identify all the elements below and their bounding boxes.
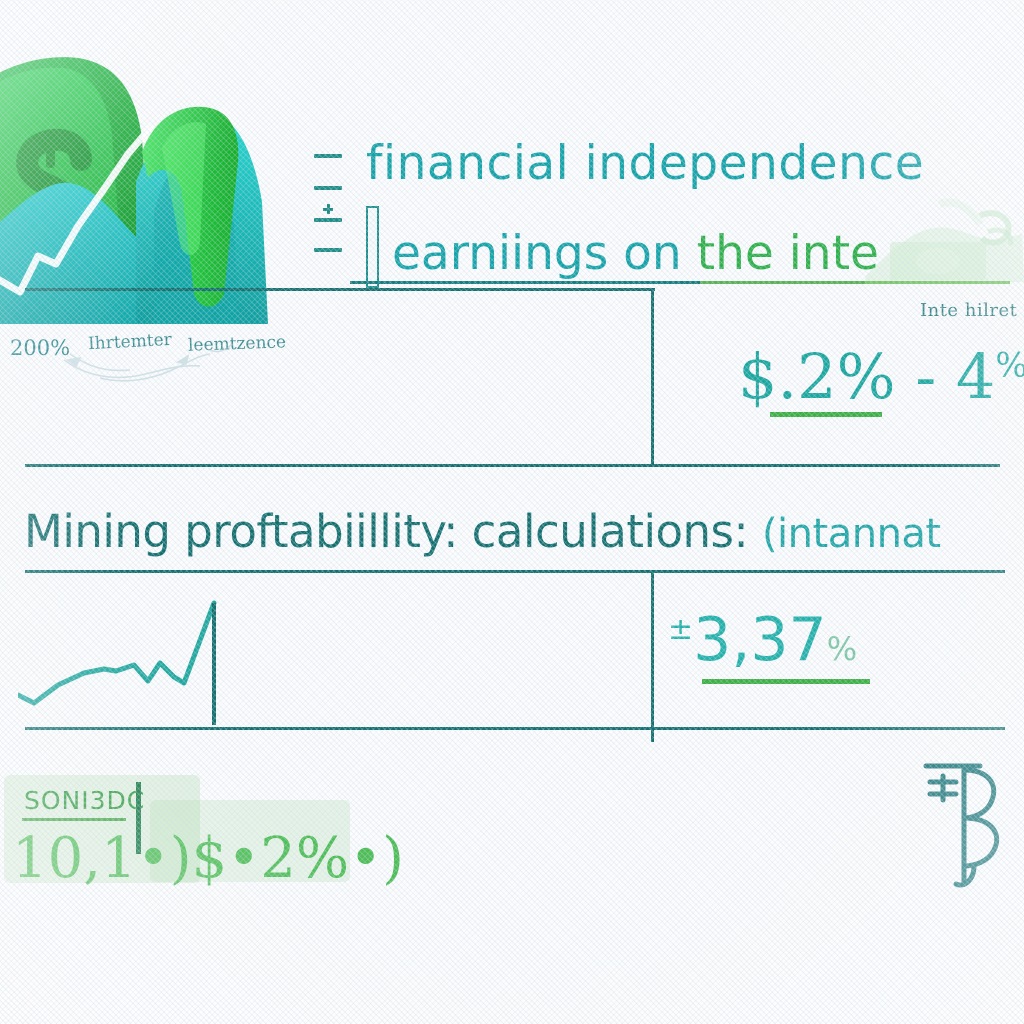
- mining-title-text: Mining proftabiillity: calculations:: [24, 505, 748, 558]
- divider-top: [25, 288, 655, 291]
- rate-value-superscript: %: [995, 345, 1024, 385]
- rate-value-main: $.2% - 4: [738, 340, 995, 413]
- bitcoin-symbol-icon: [920, 752, 1006, 902]
- dash-marker-icon: [314, 186, 342, 190]
- dash-marker-icon: [314, 218, 342, 222]
- banknote-watermark-icon: [860, 198, 1024, 290]
- headline-line-2-teal: earniings on: [392, 226, 682, 281]
- formula-expression: 10,1•)$•2%•): [12, 826, 404, 891]
- deviation-value-main: 3,37: [693, 605, 827, 675]
- formula-label-underline: [22, 818, 126, 821]
- dash-marker-icon: [314, 248, 342, 252]
- bullet-dash-markers: [314, 148, 352, 260]
- rate-micro-label: Inte hilret: [920, 300, 1017, 321]
- divider-mid-2: [25, 570, 1005, 573]
- mining-title-tail: (intannat: [762, 511, 941, 557]
- mining-profitability-line-chart: [18, 585, 238, 725]
- rate-value-underline: [770, 412, 882, 417]
- divider-mid-1: [25, 464, 1000, 467]
- headline-line-1: financial independence: [366, 136, 924, 191]
- deviation-value: ±3,37%: [668, 605, 857, 675]
- rate-value: $.2% - 4%: [738, 340, 1024, 413]
- money-growth-illustration: [0, 42, 316, 324]
- deviation-percent: %: [827, 630, 857, 668]
- vertical-bar-glyph-icon: [366, 206, 379, 288]
- formula-label: SONI3DC: [24, 786, 145, 815]
- decorative-scribble-icon: [60, 340, 270, 388]
- dash-marker-icon: [314, 154, 342, 158]
- column-divider-top: [651, 288, 654, 466]
- plus-marker-icon: [327, 204, 330, 214]
- deviation-value-underline: [702, 679, 870, 684]
- divider-bottom: [25, 727, 1005, 730]
- deviation-plus-minus: ±: [668, 612, 693, 647]
- mining-section-title: Mining proftabiillity: calculations: (in…: [24, 505, 941, 558]
- headline-line-2: earniings on the inte: [392, 226, 879, 281]
- headline-line-2-green: the inte: [697, 226, 879, 281]
- column-divider-bottom: [651, 570, 654, 742]
